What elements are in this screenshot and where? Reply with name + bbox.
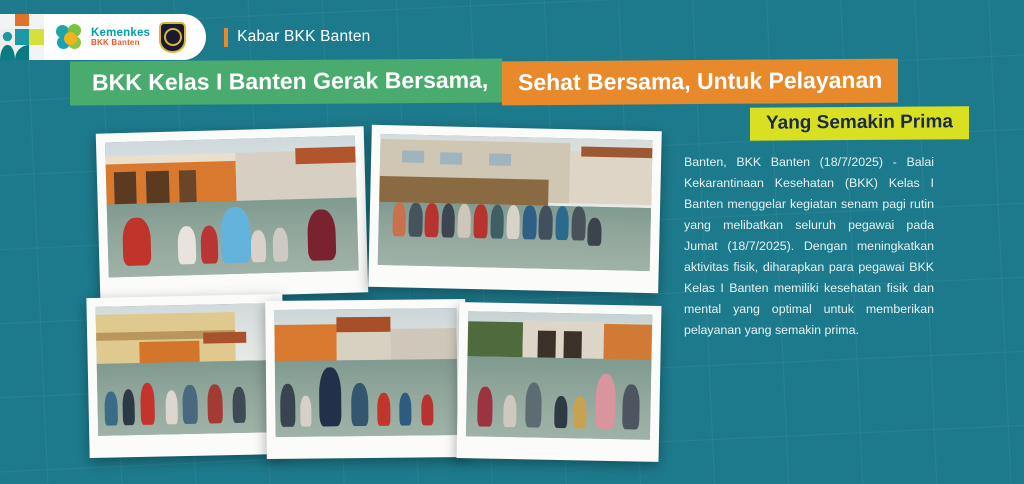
headline-row-2: Yang Semakin Prima [0, 107, 1024, 140]
decorative-pattern-block [0, 14, 44, 60]
headline-group: BKK Kelas I Banten Gerak Bersama,Sehat B… [0, 60, 1024, 140]
logo-line-unit: BKK Banten [91, 39, 150, 47]
headline-part-1: BKK Kelas I Banten Gerak Bersama, [70, 58, 502, 105]
collage-photo-4 [265, 299, 467, 459]
collage-photo-2 [368, 125, 662, 294]
headline-part-3: Yang Semakin Prima [750, 106, 969, 141]
kemenkes-logo-pill: Kemenkes BKK Banten [44, 14, 206, 60]
collage-photo-3 [86, 294, 285, 458]
photo-collage [80, 128, 680, 458]
photo-image [378, 134, 653, 271]
photo-image [274, 308, 457, 437]
headline-row-1: BKK Kelas I Banten Gerak Bersama,Sehat B… [0, 60, 1024, 104]
collage-photo-1 [96, 126, 369, 299]
garuda-shield-emblem-icon [159, 22, 186, 53]
logo-wordmark: Kemenkes BKK Banten [91, 27, 150, 47]
photo-image [466, 311, 652, 440]
photo-image [96, 303, 277, 436]
headline-part-2: Sehat Bersama, Untuk Pelayanan [502, 59, 898, 106]
article-body: Banten, BKK Banten (18/7/2025) - Balai K… [684, 152, 934, 341]
section-label-group: Kabar BKK Banten [224, 28, 370, 47]
clover-flower-icon [56, 24, 82, 50]
collage-photo-5 [457, 302, 662, 462]
photo-image [105, 136, 359, 278]
header-bar: Kemenkes BKK Banten Kabar BKK Banten [0, 14, 370, 60]
section-label: Kabar BKK Banten [237, 28, 370, 46]
vertical-accent-bar-icon [224, 28, 228, 47]
